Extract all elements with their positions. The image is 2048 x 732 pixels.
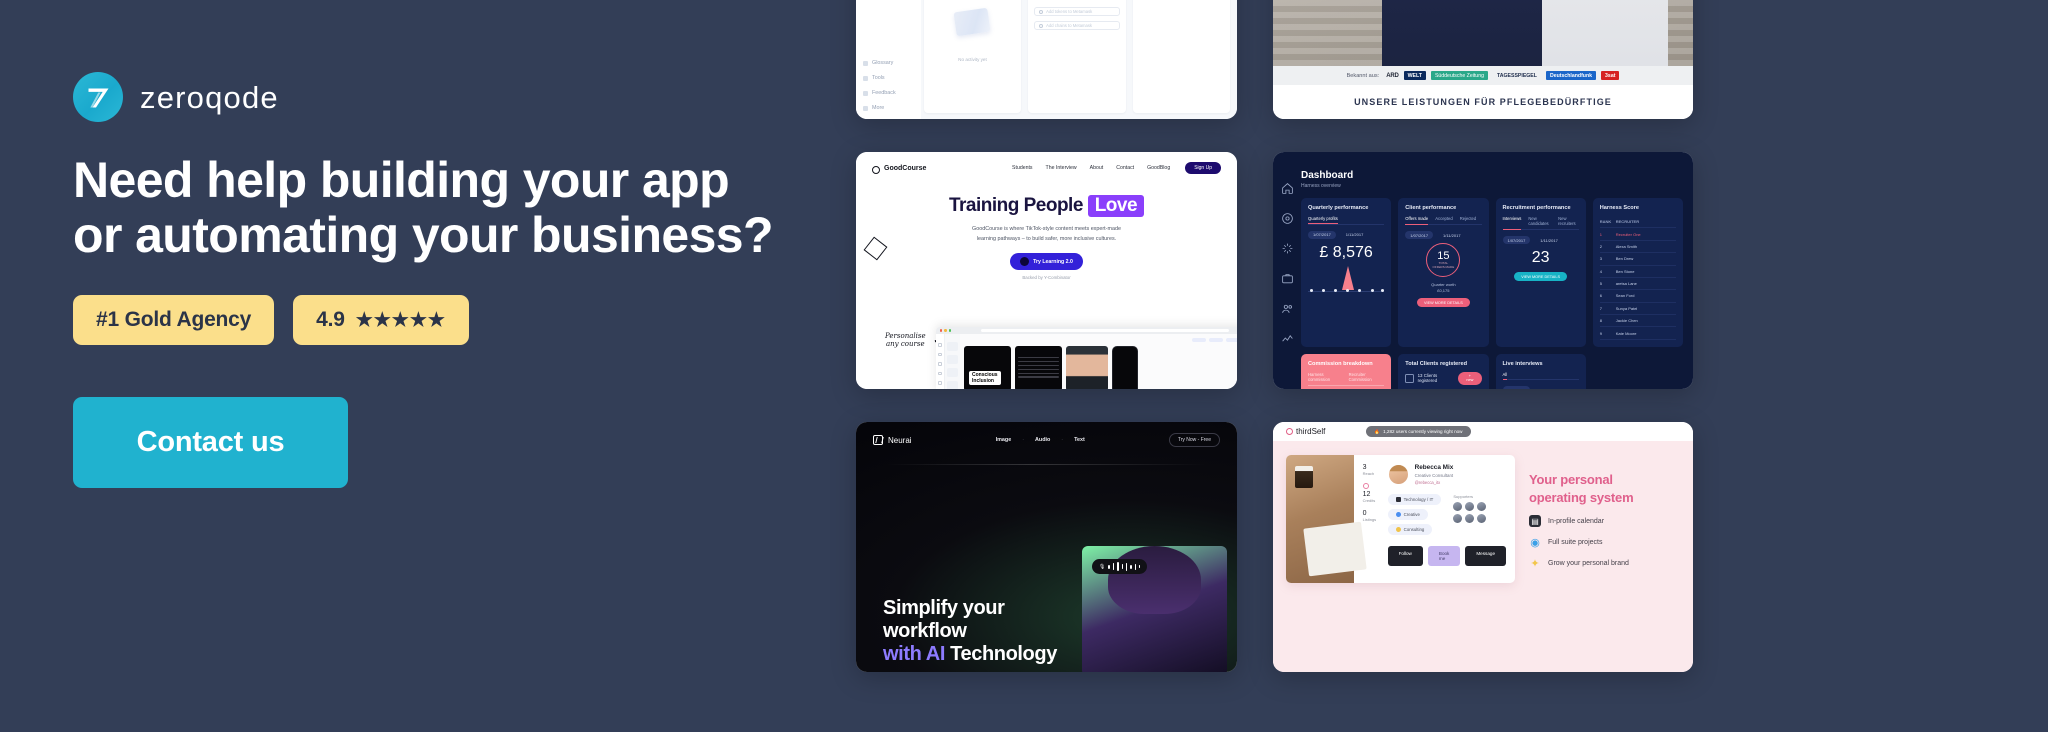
table-row: 6Sean Ford bbox=[1600, 290, 1676, 302]
commission-title: Commission breakdown bbox=[1308, 361, 1384, 367]
supporters-avatars bbox=[1453, 502, 1486, 523]
goodcourse-nav-links: Students The Interview About Contact Goo… bbox=[1012, 165, 1170, 171]
date-from[interactable]: 1/07/2017 bbox=[1503, 386, 1531, 389]
coffee-cup-photo bbox=[1295, 466, 1313, 488]
feature-label: Full suite projects bbox=[1548, 539, 1602, 546]
card-quarterly-performance: Quarterly performance Quarterly profits … bbox=[1301, 198, 1391, 347]
date-from[interactable]: 1/07/2017 bbox=[1405, 231, 1433, 239]
microphone-icon: 🎙 bbox=[1099, 564, 1105, 570]
crypto-sidebar-item: Glossary bbox=[863, 60, 914, 66]
neurai-heading-rest: Technology bbox=[945, 643, 1057, 665]
nav-separator: · bbox=[1022, 437, 1024, 443]
date-to[interactable]: 1/11/2017 bbox=[1438, 231, 1466, 239]
row-name: Kate Moore bbox=[1616, 331, 1637, 336]
offers-made-ring-chart: 15 TOTAL OFFERS MADE bbox=[1426, 243, 1460, 277]
app-icon-rail bbox=[936, 334, 945, 389]
table-row: 2Alexa Smith bbox=[1600, 241, 1676, 253]
neurai-hero-image: 🎙 bbox=[1082, 546, 1227, 672]
row-rank: 9 bbox=[1600, 331, 1610, 336]
showcase-card-dashboard[interactable]: Dashboard Harness overview Quarterly per… bbox=[1273, 152, 1693, 389]
profile-photo bbox=[1286, 455, 1354, 583]
nav-link-image[interactable]: Image bbox=[996, 437, 1012, 443]
row-name: Ben Drew bbox=[1616, 256, 1634, 261]
crypto-sidebar-label: Glossary bbox=[872, 60, 893, 66]
close-icon bbox=[940, 329, 942, 331]
feature-label: In-profile calendar bbox=[1548, 518, 1604, 525]
app-canvas: Conscious Inclusion bbox=[960, 334, 1237, 389]
crypto-sidebar-label: Feedback bbox=[872, 90, 896, 96]
goodcourse-heading-highlight: Love bbox=[1088, 195, 1144, 217]
toolbar-chip[interactable] bbox=[1209, 338, 1223, 342]
pflege-hero-photo bbox=[1273, 0, 1693, 66]
nav-link-goodblog[interactable]: GoodBlog bbox=[1147, 165, 1170, 171]
row-rank: 4 bbox=[1600, 269, 1610, 274]
slide-text-lines bbox=[1018, 357, 1059, 378]
press-logo-strip: Bekannt aus: ARD WELT Süddeutsche Zeitun… bbox=[1273, 66, 1693, 85]
headline-line-2: or automating your business? bbox=[73, 208, 833, 263]
profile-tag-list: Technology / IT Creative Consulting bbox=[1388, 494, 1442, 539]
date-to[interactable]: 1/11/2017 bbox=[1535, 236, 1563, 244]
badge-row: #1 Gold Agency 4.9 ★★★★★ bbox=[73, 295, 856, 345]
latest-transactions-title: Latest transactions bbox=[930, 0, 1015, 2]
client-view-details-button[interactable]: VIEW MORE DETAILS bbox=[1417, 298, 1470, 307]
tab-interviews[interactable]: Interviews bbox=[1503, 216, 1522, 230]
neurai-brand[interactable]: Neurai bbox=[873, 435, 912, 445]
card-commission-breakdown: Commission breakdown Harness commission … bbox=[1301, 354, 1391, 389]
thirdself-brand-label: thirdSelf bbox=[1296, 427, 1325, 436]
row-rank: 1 bbox=[1600, 232, 1610, 237]
quarter-worth-note: Quarter worth £0,175 bbox=[1405, 282, 1481, 293]
slide-card-text bbox=[1015, 346, 1062, 389]
press-logo-sz: Süddeutsche Zeitung bbox=[1431, 71, 1488, 80]
tag-label: Creative bbox=[1404, 512, 1420, 517]
browser-url-bar bbox=[981, 329, 1229, 333]
total-clients-row: 13 Clients registered + new bbox=[1405, 372, 1481, 385]
neurai-heading-line-1: Simplify your bbox=[883, 597, 1057, 620]
crypto-dashboard-screenshot: Glossary Tools Feedback More Metis$0.87⌄… bbox=[856, 0, 1237, 119]
dashboard-sidebar bbox=[1273, 152, 1301, 389]
neurai-try-now-button[interactable]: Try Now - Free bbox=[1169, 433, 1220, 447]
dashboard-main: Dashboard Harness overview Quarterly per… bbox=[1301, 152, 1693, 389]
crypto-extra-panel bbox=[1133, 0, 1230, 113]
feature-in-profile-calendar: ▤In-profile calendar bbox=[1529, 515, 1633, 527]
neurai-logo-icon bbox=[873, 435, 883, 445]
client-title: Client performance bbox=[1405, 205, 1481, 211]
total-clients-title: Total Clients registered bbox=[1405, 361, 1481, 367]
tab-quarterly-profits[interactable]: Quarterly profits bbox=[1308, 216, 1338, 224]
row-rank: 5 bbox=[1600, 281, 1610, 286]
bulb-icon bbox=[1396, 527, 1401, 532]
table-row: 5aretsa Lane bbox=[1600, 278, 1676, 290]
zeroqode-z-logo-icon bbox=[73, 72, 123, 122]
card-spacer bbox=[1593, 354, 1683, 389]
app-body: Conscious Inclusion bbox=[936, 334, 1237, 389]
date-from[interactable]: 1/07/2017 bbox=[1308, 231, 1336, 239]
gold-agency-badge: #1 Gold Agency bbox=[73, 295, 274, 345]
card-recruitment-performance: Recruitment performance Interviews New c… bbox=[1496, 198, 1586, 347]
neurai-heading: Simplify your workflow with AI Technolog… bbox=[883, 597, 1057, 666]
goodcourse-heading-text: Training People bbox=[949, 195, 1083, 216]
caregiver-photo bbox=[1542, 0, 1668, 66]
stat-reach-label: Reach bbox=[1363, 471, 1383, 476]
goodcourse-ring-icon bbox=[872, 166, 880, 174]
nav-link-contact[interactable]: Contact bbox=[1116, 165, 1134, 171]
date-to[interactable]: 1/11/2017 bbox=[1341, 231, 1369, 239]
date-from[interactable]: 1/07/2017 bbox=[1503, 236, 1531, 244]
dashboard-subtitle: Harness overview bbox=[1301, 183, 1683, 189]
neurai-website-screenshot: Neurai Image · Audio · Text Try Now - Fr… bbox=[856, 422, 1237, 672]
pflege-website-screenshot: Bekannt aus: ARD WELT Süddeutsche Zeitun… bbox=[1273, 0, 1693, 119]
quarter-worth-value: £0,175 bbox=[1405, 288, 1481, 294]
target-icon[interactable] bbox=[1281, 212, 1294, 225]
tool-video bbox=[947, 355, 958, 364]
spiral-icon: ◉ bbox=[1529, 536, 1541, 548]
nav-separator: · bbox=[1061, 437, 1063, 443]
neurai-nav-links: Image · Audio · Text bbox=[996, 437, 1085, 443]
brand-name: zeroqode bbox=[140, 82, 279, 113]
row-name: Alexa Smith bbox=[1616, 244, 1637, 249]
empty-state-text: No activity yet bbox=[930, 37, 1015, 62]
press-logo-ard: ARD bbox=[1386, 73, 1398, 79]
profile-handle: @rebecca_itx bbox=[1415, 480, 1454, 485]
goodcourse-navbar: GoodCourse Students The Interview About … bbox=[856, 152, 1237, 174]
live-tabs: All bbox=[1503, 372, 1579, 381]
recruitment-title: Recruitment performance bbox=[1503, 205, 1579, 211]
avatar-hair bbox=[1389, 465, 1408, 484]
commission-tabs: Harness commission Recruiter Commission bbox=[1308, 372, 1384, 386]
stat-reach-value: 3 bbox=[1363, 464, 1383, 471]
home-icon bbox=[938, 343, 942, 347]
portrait-hair bbox=[1108, 546, 1201, 614]
goodcourse-brand[interactable]: GoodCourse bbox=[872, 162, 926, 174]
tag-label: Consulting bbox=[1404, 527, 1425, 532]
personalise-annotation: Personalise any course bbox=[885, 332, 926, 350]
table-row: 7Sunya Patel bbox=[1600, 303, 1676, 315]
rating-value: 4.9 bbox=[316, 308, 345, 332]
total-clients-value: 13 Clients registered bbox=[1418, 373, 1455, 383]
contact-us-button[interactable]: Contact us bbox=[73, 397, 348, 488]
card-client-performance: Client performance Offers made Accepted … bbox=[1398, 198, 1488, 347]
slide-card-conscious-inclusion: Conscious Inclusion bbox=[964, 346, 1011, 389]
tag-technology-it: Technology / IT bbox=[1388, 494, 1442, 505]
showcase-card-crypto[interactable]: Glossary Tools Feedback More Metis$0.87⌄… bbox=[856, 0, 1237, 119]
stat-credits-value: 12 bbox=[1363, 491, 1383, 498]
app-tool-rail bbox=[945, 334, 960, 389]
tab-rejected[interactable]: Rejected bbox=[1460, 216, 1477, 221]
thirdself-heading-line-2: operating system bbox=[1529, 489, 1633, 507]
library-icon bbox=[938, 353, 942, 357]
press-logo-3sat: 3sat bbox=[1601, 71, 1619, 80]
briefcase-icon bbox=[1405, 374, 1413, 383]
profile-name: Rebecca Mix bbox=[1415, 464, 1454, 471]
tool-image bbox=[947, 368, 958, 377]
goodcourse-signup-button[interactable]: Sign Up bbox=[1185, 162, 1221, 174]
client-tabs: Offers made Accepted Rejected bbox=[1405, 216, 1481, 225]
gold-agency-badge-label: #1 Gold Agency bbox=[96, 308, 251, 332]
metamask-actions-panel: Metamask actions Add tokens to Metamask … bbox=[1028, 0, 1125, 113]
thirdself-brand[interactable]: thirdSelf bbox=[1286, 427, 1325, 436]
nav-link-audio[interactable]: Audio bbox=[1035, 437, 1050, 443]
profile-info: 3 Reach 12 Credits 0 Listings bbox=[1354, 455, 1515, 583]
profile-names: Rebecca Mix Creative Consultant @rebecca… bbox=[1415, 464, 1454, 485]
more-icon bbox=[863, 106, 868, 111]
tab-new-recruiters[interactable]: New recruiters bbox=[1558, 216, 1579, 226]
neurai-heading-line-3: with AI Technology bbox=[883, 643, 1057, 666]
empty-state-illustration bbox=[954, 8, 991, 36]
tools-icon bbox=[863, 76, 868, 81]
crypto-sidebar-item: More bbox=[863, 105, 914, 111]
tab-all[interactable]: All bbox=[1503, 372, 1508, 380]
neurai-divider bbox=[886, 464, 1207, 465]
supporters-label: Supporters bbox=[1453, 494, 1486, 499]
analytics-icon[interactable] bbox=[1281, 332, 1294, 345]
message-button[interactable]: Message bbox=[1465, 546, 1506, 566]
goodcourse-app-preview: Conscious Inclusion bbox=[936, 327, 1237, 389]
row-rank: 2 bbox=[1600, 244, 1610, 249]
thirdself-body: 3 Reach 12 Credits 0 Listings bbox=[1273, 441, 1693, 583]
crypto-sidebar-label: Tools bbox=[872, 75, 885, 81]
quarterly-tabs: Quarterly profits bbox=[1308, 216, 1384, 225]
col-recruiter: RECRUITER bbox=[1616, 219, 1639, 224]
crypto-sidebar-label: More bbox=[872, 105, 884, 111]
tag-label: Technology / IT bbox=[1404, 497, 1434, 502]
profile-actions: Follow Book me Message bbox=[1388, 546, 1506, 566]
tool-text bbox=[947, 342, 958, 351]
search-icon bbox=[1039, 10, 1043, 14]
score-table-header: RANKRECRUITER bbox=[1600, 216, 1676, 228]
recruitment-value: 23 bbox=[1503, 249, 1579, 267]
tab-harness-commission[interactable]: Harness commission bbox=[1308, 372, 1342, 382]
recruitment-view-details-button[interactable]: VIEW MORE DETAILS bbox=[1514, 272, 1567, 281]
thirdself-heading-line-1: Your personal bbox=[1529, 471, 1633, 489]
goodcourse-subheading: GoodCourse is where TikTok-style content… bbox=[856, 225, 1237, 244]
tool-quiz bbox=[947, 381, 958, 389]
row-rank: 7 bbox=[1600, 306, 1610, 311]
avatar bbox=[1388, 464, 1409, 485]
stat-listings-label: Listings bbox=[1363, 517, 1383, 522]
crypto-sidebar-item: Feedback bbox=[863, 90, 914, 96]
slide-tag: Conscious Inclusion bbox=[969, 371, 1001, 386]
showcase-card-neurai[interactable]: Neurai Image · Audio · Text Try Now - Fr… bbox=[856, 422, 1237, 672]
quarterly-value: £ 8,576 bbox=[1308, 244, 1384, 262]
recruitment-date-range: 1/07/20171/11/2017 bbox=[1503, 236, 1579, 244]
client-date-range: 1/07/20171/11/2017 bbox=[1405, 231, 1481, 239]
feature-full-suite-projects: ◉Full suite projects bbox=[1529, 536, 1633, 548]
thirdself-ring-icon bbox=[1286, 428, 1293, 435]
personalise-line-1: Personalise bbox=[885, 332, 926, 341]
neurai-brand-label: Neurai bbox=[888, 436, 912, 445]
nav-link-students[interactable]: Students bbox=[1012, 165, 1032, 171]
tag-creative: Creative bbox=[1388, 509, 1428, 520]
showcase-card-goodcourse[interactable]: GoodCourse Students The Interview About … bbox=[856, 152, 1237, 389]
press-logo-welt: WELT bbox=[1404, 71, 1426, 80]
live-viewers-label: 1,282 users currently viewing right now bbox=[1383, 429, 1462, 434]
add-client-button[interactable]: + new bbox=[1458, 372, 1481, 385]
goodcourse-website-screenshot: GoodCourse Students The Interview About … bbox=[856, 152, 1237, 389]
row-rank: 6 bbox=[1600, 293, 1610, 298]
table-row: 3Ben Drew bbox=[1600, 253, 1676, 265]
date-to[interactable]: 1/11/2017 bbox=[1535, 386, 1563, 389]
tag-consulting: Consulting bbox=[1388, 524, 1433, 535]
showcase-gallery: Glossary Tools Feedback More Metis$0.87⌄… bbox=[856, 0, 2048, 732]
calendar-icon: ▤ bbox=[1529, 515, 1541, 527]
recruitment-tabs: Interviews New candidates New recruiters bbox=[1503, 216, 1579, 230]
sparkline-axis bbox=[1308, 291, 1384, 292]
row-name: aretsa Lane bbox=[1616, 281, 1637, 286]
graduation-cap-icon bbox=[1020, 257, 1029, 266]
thirdself-website-screenshot: thirdSelf 🔥 1,282 users currently viewin… bbox=[1273, 422, 1693, 672]
goodcourse-sub-line-2: learning pathways – to build safer, more… bbox=[856, 235, 1237, 245]
add-chains-placeholder: Add chains to Metamask bbox=[1046, 23, 1092, 28]
card-harness-score: Harness Score RANKRECRUITER 1Recruiter O… bbox=[1593, 198, 1683, 347]
press-logo-tagesspiegel: TAGESSPIEGEL bbox=[1493, 71, 1541, 80]
minimize-icon bbox=[944, 329, 946, 331]
tab-new-candidates[interactable]: New candidates bbox=[1528, 216, 1551, 226]
sparkline-peak bbox=[1342, 266, 1354, 290]
dashboard-card-grid: Quarterly performance Quarterly profits … bbox=[1301, 198, 1683, 389]
live-date-range: 1/07/20171/11/2017 bbox=[1503, 386, 1579, 389]
toolbar-chip[interactable] bbox=[1192, 338, 1206, 342]
add-tokens-input[interactable]: Add tokens to Metamask bbox=[1034, 7, 1119, 16]
briefcase-icon[interactable] bbox=[1281, 272, 1294, 285]
elderly-man-photo bbox=[1382, 0, 1567, 66]
add-icon bbox=[938, 362, 942, 366]
rating-badge: 4.9 ★★★★★ bbox=[293, 295, 469, 345]
live-viewers-badge: 🔥 1,282 users currently viewing right no… bbox=[1366, 426, 1470, 437]
supporters-block: Supporters bbox=[1453, 494, 1486, 539]
goodcourse-sub-line-1: GoodCourse is where TikTok-style content… bbox=[856, 225, 1237, 235]
ring-label-2: OFFERS MADE bbox=[1433, 266, 1455, 270]
nav-link-about[interactable]: About bbox=[1090, 165, 1104, 171]
goodcourse-cta-button[interactable]: Try Learning 2.0 bbox=[1010, 253, 1083, 270]
add-chains-input[interactable]: Add chains to Metamask bbox=[1034, 21, 1119, 30]
dashboard-title: Dashboard bbox=[1301, 170, 1683, 181]
known-from-label: Bekannt aus: bbox=[1347, 73, 1380, 79]
tab-recruiter-commission[interactable]: Recruiter Commission bbox=[1349, 372, 1385, 382]
card-total-clients: Total Clients registered 13 Clients regi… bbox=[1398, 354, 1488, 389]
sparkle-icon: ✦ bbox=[1529, 557, 1541, 569]
thirdself-navbar: thirdSelf 🔥 1,282 users currently viewin… bbox=[1273, 422, 1693, 441]
pflege-services-band: UNSERE LEISTUNGEN FÜR PFLEGEBEDÜRFTIGE bbox=[1273, 85, 1693, 119]
personalise-line-2: any course bbox=[885, 340, 926, 349]
thirdself-heading: Your personal operating system bbox=[1529, 471, 1633, 506]
neurai-heading-accent: with AI bbox=[883, 643, 945, 665]
home-icon[interactable] bbox=[1281, 182, 1294, 195]
feedback-icon bbox=[863, 91, 868, 96]
row-name: Sunya Patel bbox=[1616, 306, 1638, 311]
slide-tag-line-1: Conscious bbox=[972, 372, 998, 378]
voice-waveform-badge: 🎙 bbox=[1092, 559, 1147, 574]
palette-icon bbox=[1396, 512, 1401, 517]
recruitment-dashboard-screenshot: Dashboard Harness overview Quarterly per… bbox=[1273, 152, 1693, 389]
pflege-services-heading: UNSERE LEISTUNGEN FÜR PFLEGEBEDÜRFTIGE bbox=[1354, 97, 1612, 107]
app-toolbar bbox=[964, 338, 1237, 342]
goodcourse-heading: Training People Love bbox=[856, 195, 1237, 217]
crypto-sidebar: Glossary Tools Feedback More bbox=[856, 0, 921, 119]
row-name: Jackie Chen bbox=[1616, 318, 1638, 323]
goodcourse-backed-by: Backed by Y-Combinator bbox=[856, 275, 1237, 280]
live-interviews-title: Live interviews bbox=[1503, 361, 1579, 367]
quarterly-title: Quarterly performance bbox=[1308, 205, 1384, 211]
showcase-card-pflege[interactable]: Bekannt aus: ARD WELT Süddeutsche Zeitun… bbox=[1273, 0, 1693, 119]
feature-grow-personal-brand: ✦Grow your personal brand bbox=[1529, 557, 1633, 569]
phone-preview bbox=[1112, 346, 1138, 389]
latest-transactions-panel: Latest transactions No activity yet bbox=[924, 0, 1021, 113]
glossary-icon bbox=[863, 61, 868, 66]
chat-icon bbox=[938, 381, 942, 385]
neurai-navbar: Neurai Image · Audio · Text Try Now - Fr… bbox=[856, 422, 1237, 458]
credits-icon bbox=[1363, 483, 1369, 489]
stat-listings-value: 0 bbox=[1363, 510, 1383, 517]
bookmark-icon bbox=[938, 372, 942, 376]
rating-stars-icon: ★★★★★ bbox=[356, 309, 446, 332]
crypto-sidebar-item: Tools bbox=[863, 75, 914, 81]
sparkle-icon[interactable] bbox=[1281, 242, 1294, 255]
neurai-heading-line-2: workflow bbox=[883, 620, 1057, 643]
metamask-actions-title: Metamask actions bbox=[1034, 0, 1119, 2]
quarterly-date-range: 1/07/20171/11/2017 bbox=[1308, 231, 1384, 239]
follow-button[interactable]: Follow bbox=[1388, 546, 1423, 566]
search-icon bbox=[1039, 24, 1043, 28]
stat-credits-label: Credits bbox=[1363, 498, 1383, 503]
quarterly-sparkline-chart bbox=[1308, 266, 1384, 292]
hero-left-column: zeroqode Need help building your app or … bbox=[0, 0, 856, 732]
slide-tag-line-2: Inclusion bbox=[972, 378, 998, 384]
row-name: Ben Stone bbox=[1616, 269, 1635, 274]
tab-offers-made[interactable]: Offers made bbox=[1405, 216, 1428, 225]
page-title: Need help building your app or automatin… bbox=[73, 153, 833, 263]
maximize-icon bbox=[949, 329, 951, 331]
crypto-body: Metis$0.87⌄ BSC$0.84⌄ Celo$0.80⌄ Extende… bbox=[921, 0, 1237, 119]
slide-card-presenter-video bbox=[1066, 346, 1108, 389]
notebook-photo bbox=[1303, 522, 1366, 577]
book-me-button[interactable]: Book me bbox=[1428, 546, 1460, 566]
browser-chrome-bar bbox=[936, 327, 1237, 334]
card-live-interviews: Live interviews All 1/07/20171/11/2017 2… bbox=[1496, 354, 1586, 389]
table-row: 1Recruiter One bbox=[1600, 228, 1676, 240]
row-name: Sean Ford bbox=[1616, 293, 1635, 298]
row-rank: 3 bbox=[1600, 256, 1610, 261]
row-rank: 8 bbox=[1600, 318, 1610, 323]
col-rank: RANK bbox=[1600, 219, 1610, 224]
brand-logo[interactable]: zeroqode bbox=[73, 72, 856, 122]
flame-icon: 🔥 bbox=[1374, 429, 1380, 435]
table-row: 9Kate Moore bbox=[1600, 327, 1676, 339]
profile-card: 3 Reach 12 Credits 0 Listings bbox=[1286, 455, 1515, 583]
nav-link-the-interview[interactable]: The Interview bbox=[1046, 165, 1077, 171]
table-row: 8Jackie Chen bbox=[1600, 315, 1676, 327]
monitor-icon bbox=[1396, 497, 1401, 502]
profile-role: Creative Consultant bbox=[1415, 473, 1454, 478]
thirdself-copy: Your personal operating system ▤In-profi… bbox=[1529, 455, 1633, 583]
hero-section: zeroqode Need help building your app or … bbox=[0, 0, 2048, 732]
goodcourse-cta-label: Try Learning 2.0 bbox=[1033, 259, 1073, 265]
table-row: 4Ben Stone bbox=[1600, 266, 1676, 278]
people-icon[interactable] bbox=[1281, 302, 1294, 315]
tab-accepted[interactable]: Accepted bbox=[1435, 216, 1452, 221]
goodcourse-brand-label: GoodCourse bbox=[884, 165, 926, 172]
harness-score-title: Harness Score bbox=[1600, 205, 1676, 211]
profile-tags-and-supporters: Technology / IT Creative Consulting Supp… bbox=[1388, 494, 1506, 539]
profile-identity: Rebecca Mix Creative Consultant @rebecca… bbox=[1388, 464, 1506, 485]
nav-link-text[interactable]: Text bbox=[1074, 437, 1085, 443]
toolbar-chip[interactable] bbox=[1226, 338, 1237, 342]
row-name: Recruiter One bbox=[1616, 232, 1641, 237]
profile-stats: 3 Reach 12 Credits 0 Listings bbox=[1363, 464, 1383, 529]
showcase-card-thirdself[interactable]: thirdSelf 🔥 1,282 users currently viewin… bbox=[1273, 422, 1693, 672]
app-slide-cards: Conscious Inclusion bbox=[964, 346, 1237, 389]
feature-label: Grow your personal brand bbox=[1548, 560, 1629, 567]
